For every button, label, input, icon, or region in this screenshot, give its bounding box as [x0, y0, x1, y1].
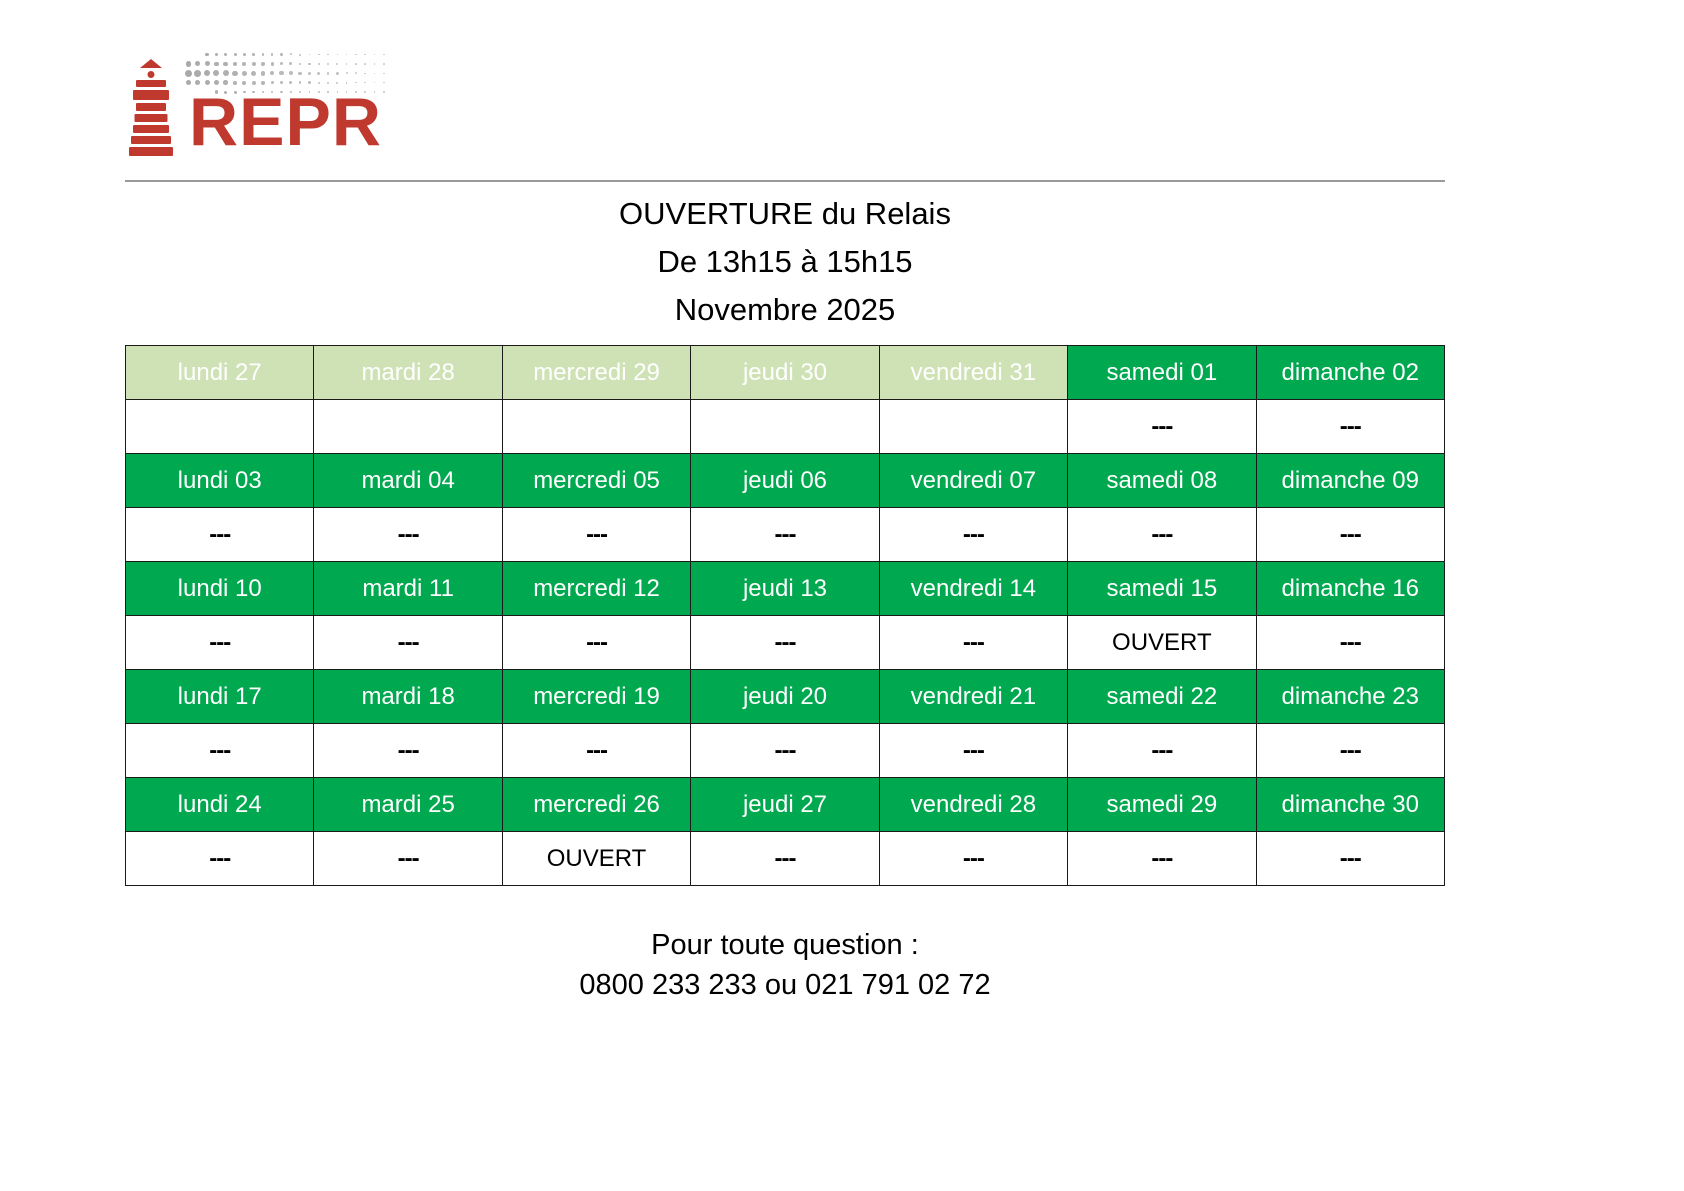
day-header-cell[interactable]: lundi 24 — [126, 778, 314, 832]
brand-header: REPR — [125, 45, 1445, 180]
status-text: --- — [1340, 521, 1361, 548]
status-cell[interactable]: --- — [314, 724, 502, 778]
status-cell[interactable]: --- — [502, 724, 690, 778]
page-title: OUVERTURE du Relais — [0, 190, 1570, 238]
status-text: OUVERT — [1112, 629, 1212, 656]
status-cell[interactable]: --- — [126, 724, 314, 778]
day-header-cell[interactable]: mardi 25 — [314, 778, 502, 832]
day-header-cell[interactable]: mercredi 12 — [502, 562, 690, 616]
day-header-cell[interactable]: lundi 10 — [126, 562, 314, 616]
calendar-header-row: lundi 03mardi 04mercredi 05jeudi 06vendr… — [126, 454, 1445, 508]
calendar-header-row: lundi 27mardi 28mercredi 29jeudi 30vendr… — [126, 346, 1445, 400]
status-cell[interactable]: --- — [691, 724, 879, 778]
calendar-header-row: lundi 17mardi 18mercredi 19jeudi 20vendr… — [126, 670, 1445, 724]
status-text: --- — [1340, 413, 1361, 440]
status-cell[interactable] — [126, 400, 314, 454]
calendar-status-row: ------ — [126, 400, 1445, 454]
status-text: --- — [1340, 737, 1361, 764]
status-text: --- — [586, 737, 607, 764]
day-header-cell[interactable]: dimanche 02 — [1256, 346, 1444, 400]
status-text: --- — [1151, 413, 1172, 440]
status-text: --- — [1151, 521, 1172, 548]
day-header-cell[interactable]: dimanche 30 — [1256, 778, 1444, 832]
day-header-cell[interactable]: lundi 03 — [126, 454, 314, 508]
calendar-status-row: ---------------OUVERT--- — [126, 616, 1445, 670]
status-text: --- — [1340, 629, 1361, 656]
status-cell[interactable]: --- — [314, 508, 502, 562]
status-cell[interactable] — [502, 400, 690, 454]
calendar-status-row: --------------------- — [126, 508, 1445, 562]
status-cell[interactable]: --- — [879, 616, 1067, 670]
status-text: --- — [774, 737, 795, 764]
status-cell[interactable]: --- — [1068, 400, 1256, 454]
logo: REPR — [125, 45, 1445, 155]
day-header-cell[interactable]: jeudi 13 — [691, 562, 879, 616]
poster-titles: OUVERTURE du Relais De 13h15 à 15h15 Nov… — [0, 190, 1570, 334]
status-cell[interactable]: --- — [126, 508, 314, 562]
status-cell[interactable] — [314, 400, 502, 454]
status-text: --- — [1151, 845, 1172, 872]
status-cell[interactable]: --- — [126, 832, 314, 886]
day-header-cell[interactable]: mercredi 05 — [502, 454, 690, 508]
day-header-cell[interactable]: vendredi 28 — [879, 778, 1067, 832]
status-text: --- — [774, 521, 795, 548]
status-text: --- — [398, 737, 419, 764]
status-text: --- — [963, 845, 984, 872]
status-cell[interactable] — [691, 400, 879, 454]
day-header-cell[interactable]: jeudi 06 — [691, 454, 879, 508]
day-header-cell[interactable]: dimanche 09 — [1256, 454, 1444, 508]
calendar-container: lundi 27mardi 28mercredi 29jeudi 30vendr… — [125, 345, 1445, 886]
status-text: --- — [398, 521, 419, 548]
header-divider — [125, 180, 1445, 182]
day-header-cell[interactable]: mercredi 26 — [502, 778, 690, 832]
status-cell[interactable]: --- — [1256, 724, 1444, 778]
status-cell[interactable]: --- — [691, 616, 879, 670]
status-cell[interactable]: --- — [879, 724, 1067, 778]
status-cell[interactable]: --- — [1256, 832, 1444, 886]
poster-page: REPR OUVERTURE du Relais De 13h15 à 15h1… — [0, 0, 1684, 1191]
day-header-cell[interactable]: dimanche 23 — [1256, 670, 1444, 724]
footer-question-label: Pour toute question : — [0, 925, 1570, 965]
status-cell[interactable]: --- — [502, 508, 690, 562]
status-cell[interactable]: --- — [1068, 508, 1256, 562]
calendar-status-row: ------OUVERT------------ — [126, 832, 1445, 886]
day-header-cell[interactable]: mercredi 19 — [502, 670, 690, 724]
status-cell[interactable]: --- — [691, 508, 879, 562]
calendar-header-row: lundi 10mardi 11mercredi 12jeudi 13vendr… — [126, 562, 1445, 616]
status-text: --- — [398, 629, 419, 656]
status-open-cell[interactable]: OUVERT — [502, 832, 690, 886]
status-cell[interactable]: --- — [126, 616, 314, 670]
status-cell[interactable]: --- — [691, 832, 879, 886]
calendar-header-row: lundi 24mardi 25mercredi 26jeudi 27vendr… — [126, 778, 1445, 832]
day-header-cell[interactable]: mardi 04 — [314, 454, 502, 508]
status-text: --- — [586, 629, 607, 656]
status-text: --- — [774, 629, 795, 656]
day-header-cell[interactable]: mardi 18 — [314, 670, 502, 724]
day-header-cell[interactable]: jeudi 30 — [691, 346, 879, 400]
status-cell[interactable]: --- — [879, 508, 1067, 562]
day-header-cell[interactable]: samedi 01 — [1068, 346, 1256, 400]
status-text: --- — [209, 629, 230, 656]
status-cell[interactable]: --- — [879, 832, 1067, 886]
status-text: --- — [398, 845, 419, 872]
day-header-cell[interactable]: lundi 27 — [126, 346, 314, 400]
calendar-status-row: --------------------- — [126, 724, 1445, 778]
day-header-cell[interactable]: jeudi 27 — [691, 778, 879, 832]
status-text: --- — [209, 737, 230, 764]
day-header-cell[interactable]: mercredi 29 — [502, 346, 690, 400]
calendar-table: lundi 27mardi 28mercredi 29jeudi 30vendr… — [125, 345, 1445, 886]
opening-hours: De 13h15 à 15h15 — [0, 238, 1570, 286]
day-header-cell[interactable]: vendredi 07 — [879, 454, 1067, 508]
footer-contact: Pour toute question : 0800 233 233 ou 02… — [0, 925, 1570, 1005]
day-header-cell[interactable]: samedi 08 — [1068, 454, 1256, 508]
status-text: OUVERT — [547, 845, 647, 872]
lighthouse-icon — [125, 55, 177, 155]
status-text: --- — [963, 521, 984, 548]
status-cell[interactable]: --- — [1256, 400, 1444, 454]
day-header-cell[interactable]: jeudi 20 — [691, 670, 879, 724]
day-header-cell[interactable]: mardi 11 — [314, 562, 502, 616]
status-cell[interactable]: --- — [1068, 724, 1256, 778]
day-header-cell[interactable]: vendredi 14 — [879, 562, 1067, 616]
status-open-cell[interactable]: OUVERT — [1068, 616, 1256, 670]
status-cell[interactable]: --- — [502, 616, 690, 670]
day-header-cell[interactable]: lundi 17 — [126, 670, 314, 724]
day-header-cell[interactable]: samedi 29 — [1068, 778, 1256, 832]
status-text: --- — [209, 845, 230, 872]
day-header-cell[interactable]: mardi 28 — [314, 346, 502, 400]
status-text: --- — [1151, 737, 1172, 764]
dot-pattern-decoration — [185, 51, 395, 97]
day-header-cell[interactable]: vendredi 31 — [879, 346, 1067, 400]
day-header-cell[interactable]: vendredi 21 — [879, 670, 1067, 724]
status-text: --- — [963, 629, 984, 656]
status-text: --- — [963, 737, 984, 764]
footer-phone-numbers: 0800 233 233 ou 021 791 02 72 — [0, 965, 1570, 1005]
month-label: Novembre 2025 — [0, 286, 1570, 334]
status-text: --- — [774, 845, 795, 872]
status-cell[interactable]: --- — [314, 832, 502, 886]
day-header-cell[interactable]: samedi 15 — [1068, 562, 1256, 616]
status-cell[interactable]: --- — [1068, 832, 1256, 886]
day-header-cell[interactable]: samedi 22 — [1068, 670, 1256, 724]
status-cell[interactable]: --- — [1256, 616, 1444, 670]
status-cell[interactable]: --- — [314, 616, 502, 670]
status-text: --- — [586, 521, 607, 548]
status-cell[interactable]: --- — [1256, 508, 1444, 562]
status-text: --- — [209, 521, 230, 548]
brand-name: REPR — [189, 90, 382, 155]
status-cell[interactable] — [879, 400, 1067, 454]
day-header-cell[interactable]: dimanche 16 — [1256, 562, 1444, 616]
status-text: --- — [1340, 845, 1361, 872]
